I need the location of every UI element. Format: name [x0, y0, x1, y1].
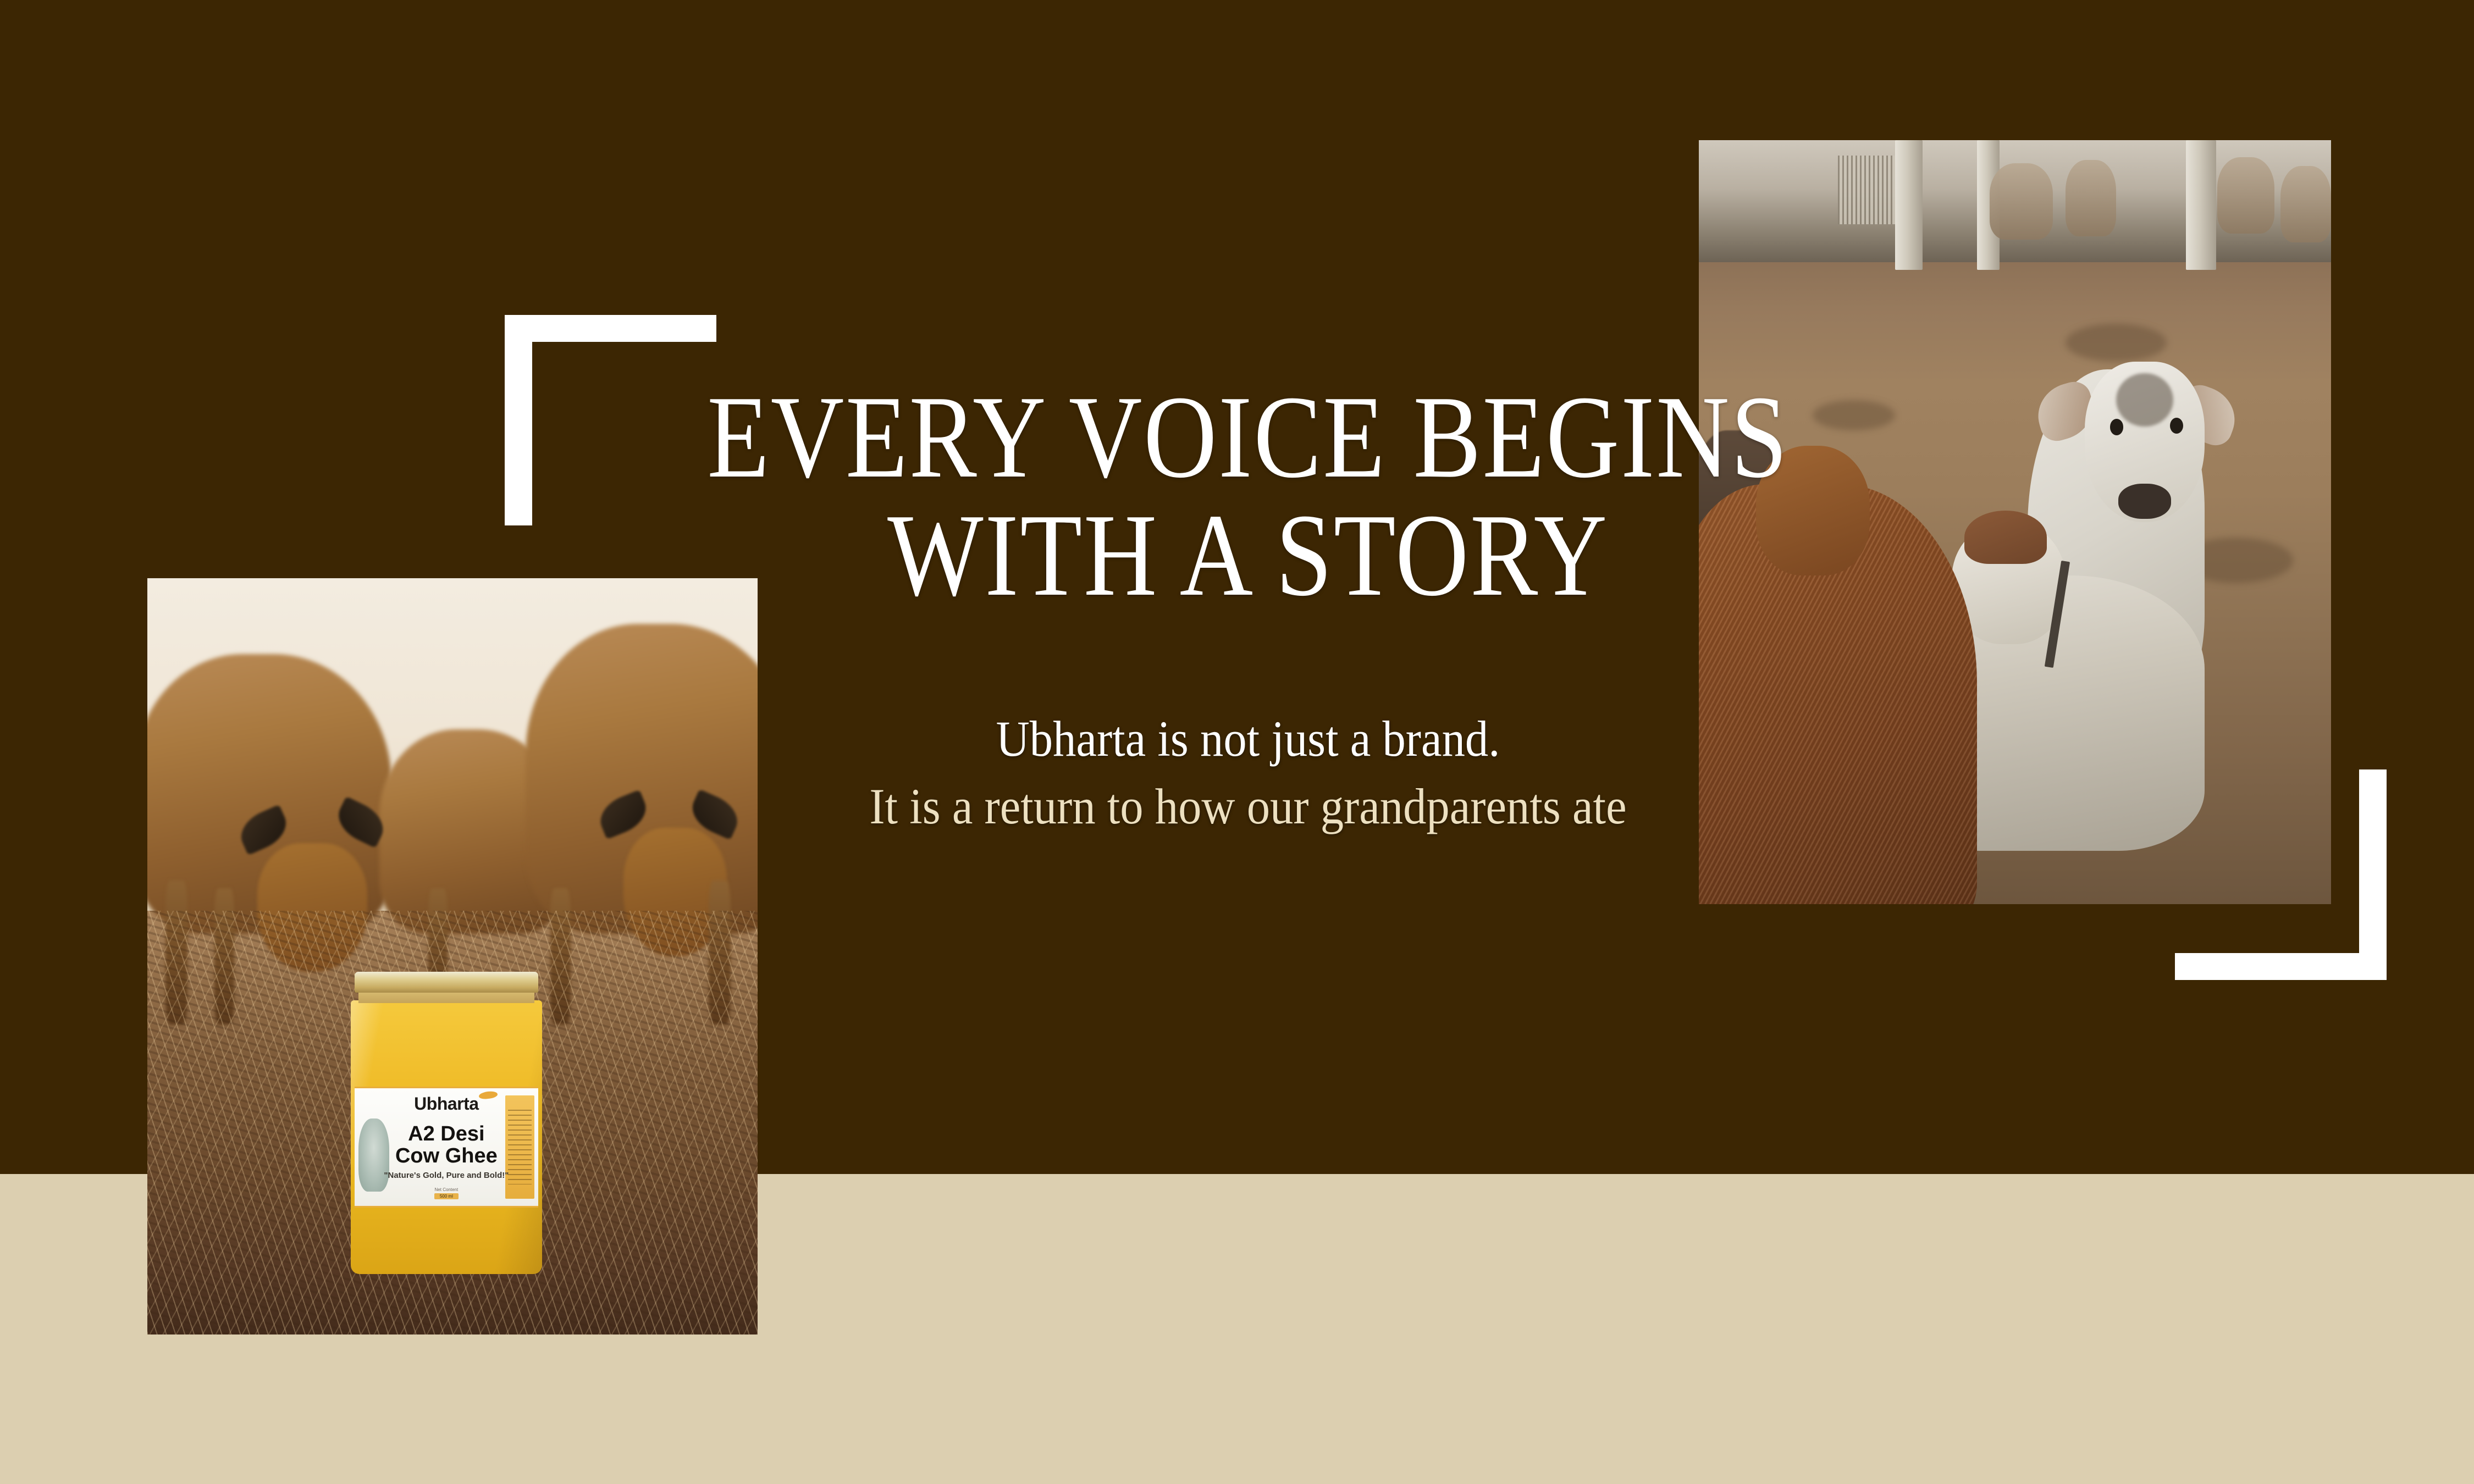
- page-title: EVERY VOICE BEGINS WITH A STORY: [666, 379, 1830, 613]
- slide-canvas: Ubharta A2 Desi Cow Ghee "Nature's Gold,…: [0, 0, 2474, 1484]
- shed-pillar: [2186, 140, 2216, 270]
- subtitle-block: Ubharta is not just a brand. It is a ret…: [572, 709, 1924, 836]
- cow-head-marking: [1964, 511, 2047, 564]
- jar-lid: [355, 972, 538, 993]
- cow-eye: [2170, 418, 2183, 434]
- jar-label: Ubharta A2 Desi Cow Ghee "Nature's Gold,…: [355, 1087, 538, 1208]
- label-brand-name: Ubharta: [355, 1094, 538, 1114]
- label-product-line2: Cow Ghee: [395, 1144, 498, 1167]
- background-cow: [2066, 160, 2116, 236]
- background-cow: [2280, 166, 2331, 242]
- label-tagline: "Nature's Gold, Pure and Bold!": [355, 1171, 538, 1180]
- bracket-arm-horizontal: [505, 315, 716, 342]
- cow-eye: [2110, 419, 2123, 435]
- shed-pillar: [1895, 140, 1923, 270]
- background-cow: [2217, 157, 2274, 234]
- label-net-text: Net Content: [435, 1187, 459, 1192]
- background-cow: [1990, 163, 2053, 240]
- subtitle-line-2: It is a return to how our grandparents a…: [626, 777, 1870, 837]
- label-product-line1: A2 Desi: [408, 1122, 484, 1145]
- label-net-content: Net Content 500 ml: [355, 1187, 538, 1199]
- label-product-name: A2 Desi Cow Ghee: [355, 1123, 538, 1167]
- jar-neck: [358, 991, 534, 1003]
- ground-detail: [2066, 324, 2167, 362]
- corner-bracket-bottom-right: [2175, 769, 2387, 980]
- bracket-arm-vertical: [505, 315, 532, 525]
- ghee-jar-product: Ubharta A2 Desi Cow Ghee "Nature's Gold,…: [349, 972, 544, 1274]
- photo-grazing-cows-with-ghee-jar: Ubharta A2 Desi Cow Ghee "Nature's Gold,…: [147, 578, 758, 1335]
- headline-line-1: EVERY VOICE BEGINS: [666, 379, 1830, 495]
- subtitle-line-1: Ubharta is not just a brand.: [626, 709, 1870, 769]
- cow-forehead-marking: [2116, 373, 2173, 427]
- bracket-arm-horizontal: [2175, 953, 2387, 980]
- label-net-value: 500 ml: [434, 1193, 459, 1199]
- headline-line-2: WITH A STORY: [666, 497, 1830, 613]
- bracket-arm-vertical: [2359, 769, 2387, 980]
